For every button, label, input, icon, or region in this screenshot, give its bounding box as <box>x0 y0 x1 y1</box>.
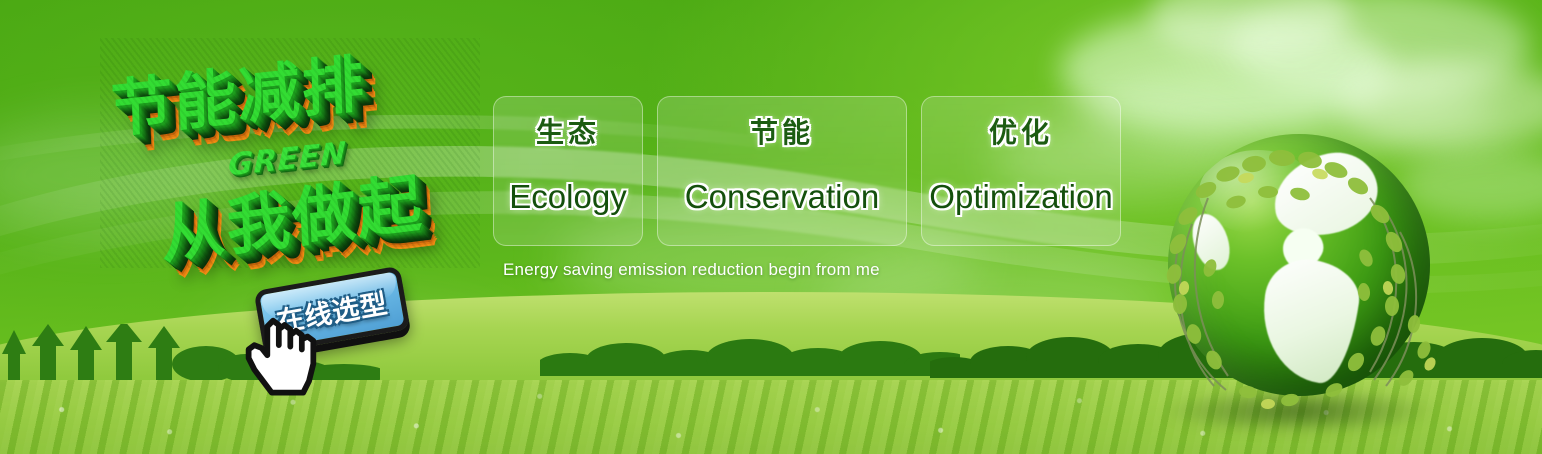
feature-card-list: 生态 Ecology 节能 Conservation 优化 Optimizati… <box>493 96 1121 246</box>
feature-card-ecology[interactable]: 生态 Ecology <box>493 96 643 246</box>
logo-headline-cn-bottom: 从我做起 <box>159 152 426 276</box>
feature-card-optimization[interactable]: 优化 Optimization <box>921 96 1121 246</box>
feature-card-title-en: Optimization <box>929 178 1112 216</box>
banner-tagline: Energy saving emission reduction begin f… <box>503 260 880 280</box>
globe-gloss-highlight <box>1199 150 1317 234</box>
cloud-icon <box>1150 0 1350 60</box>
green-earth-globe <box>1148 128 1448 428</box>
feature-card-title-en: Conservation <box>685 178 879 216</box>
cloud-icon <box>1230 0 1530 100</box>
feature-card-title-cn: 优化 <box>989 115 1053 150</box>
feature-card-title-cn: 节能 <box>750 115 814 150</box>
feature-card-title-cn: 生态 <box>536 115 600 150</box>
hand-pointer-icon <box>240 300 332 396</box>
continent-south-america <box>1254 254 1364 386</box>
feature-card-title-en: Ecology <box>509 178 626 216</box>
logo-headline-cn-top: 节能减排 <box>109 33 367 150</box>
hero-3d-logo: 节能减排 GREEN 从我做起 <box>100 38 480 268</box>
green-energy-banner: 节能减排 GREEN 从我做起 在线选型 <box>0 0 1542 454</box>
feature-card-conservation[interactable]: 节能 Conservation <box>657 96 907 246</box>
globe-sphere <box>1168 134 1430 396</box>
